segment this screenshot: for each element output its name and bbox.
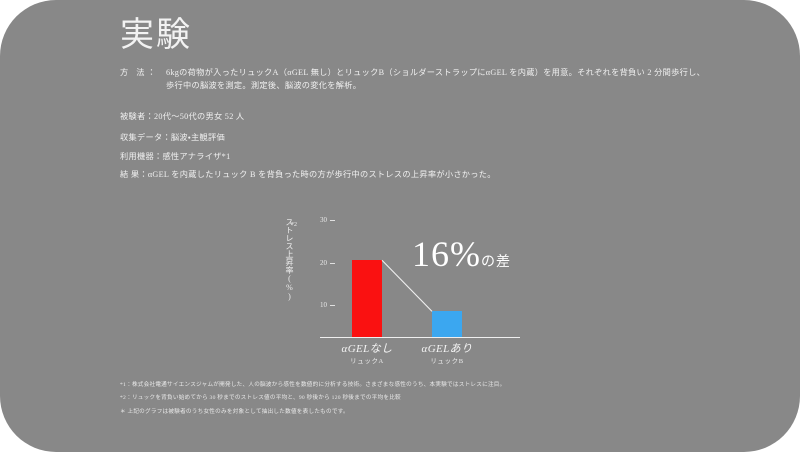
category-label-b: αGELあり リュックB — [392, 342, 502, 367]
y-tick-dash-30 — [330, 220, 335, 221]
result-label: 結 果： — [120, 170, 148, 179]
difference-value: 16% — [412, 234, 481, 274]
y-tick-label-30: 30 — [305, 216, 327, 224]
collected-data-row: 収集データ：脳波・主観評価 — [120, 131, 225, 144]
category-b-sub: リュックB — [392, 357, 502, 367]
y-axis-label-text: ストレス上昇率 — [285, 218, 294, 274]
bar-alpha-gel-included — [432, 311, 462, 337]
method-line-1: 方 法：6kgの荷物が入ったリュックA（αGEL 無し）とリュックB（ショルダー… — [120, 66, 705, 79]
slide-canvas: 実験 方 法：6kgの荷物が入ったリュックA（αGEL 無し）とリュックB（ショ… — [0, 0, 800, 452]
y-tick-label-10: 10 — [305, 301, 327, 309]
method-text-2: 歩行中の脳波を測定。測定後、脳波の変化を解析。 — [166, 81, 361, 90]
y-tick-dash-20 — [330, 263, 335, 264]
y-tick-label-20: 20 — [305, 259, 327, 267]
method-text-1: 6kgの荷物が入ったリュックA（αGEL 無し）とリュックB（ショルダーストラッ… — [166, 68, 705, 77]
y-tick-dash-10 — [330, 305, 335, 306]
page-title: 実験 — [120, 14, 192, 58]
chart-baseline — [320, 337, 520, 338]
y-axis-unit: (%) — [285, 274, 294, 301]
y-axis-label: ストレス上昇率(%) — [278, 218, 294, 301]
result-text: αGEL を内蔵したリュック B を背負った時の方が歩行中のストレスの上昇率が小… — [148, 170, 496, 179]
method-label: 方 法： — [120, 66, 166, 79]
result-row: 結 果：αGEL を内蔵したリュック B を背負った時の方が歩行中のストレスの上… — [120, 168, 496, 181]
device-row: 利用機器：感性アナライザ*1 — [120, 150, 230, 163]
difference-suffix: の差 — [481, 255, 511, 270]
footnote-1: *1：株式会社電通サイエンスジャムが開発した、人の脳波から感性を数値的に分析する… — [120, 381, 506, 390]
difference-annotation: 16%の差 — [412, 236, 511, 272]
footnote-2: *2：リュックを背負い始めてから 30 秒までのストレス値の平均と、90 秒後か… — [120, 394, 401, 403]
subjects-row: 被験者：20代～50代の男女 52 人 — [120, 110, 244, 123]
category-b-name: αGELあり — [392, 342, 502, 357]
method-line-2: 歩行中の脳波を測定。測定後、脳波の変化を解析。 — [120, 79, 361, 92]
difference-connector-line — [300, 200, 560, 360]
bar-alpha-gel-none — [352, 260, 382, 337]
footnote-3: ＊ 上記のグラフは被験者のうち女性のみを対象として抽出した数値を表したものです。 — [120, 408, 349, 417]
